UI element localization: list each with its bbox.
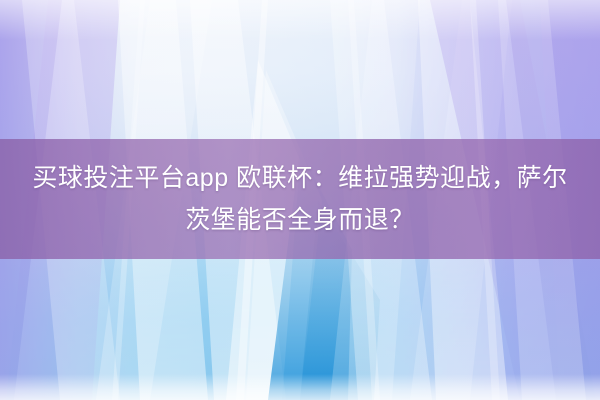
- caption-headline: 买球投注平台app 欧联杯：维拉强势迎战，萨尔茨堡能否全身而退？: [14, 157, 586, 241]
- promo-banner: 买球投注平台app 欧联杯：维拉强势迎战，萨尔茨堡能否全身而退？: [0, 0, 600, 400]
- caption-band: 买球投注平台app 欧联杯：维拉强势迎战，萨尔茨堡能否全身而退？: [0, 139, 600, 259]
